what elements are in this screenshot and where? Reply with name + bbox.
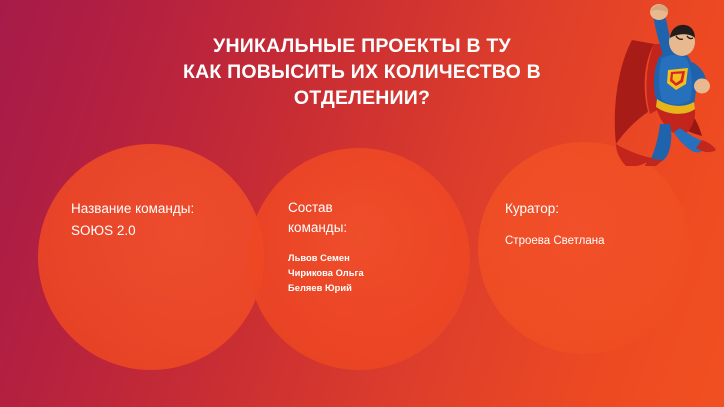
card-curator-heading: Куратор: <box>505 199 680 219</box>
slide-title: УНИКАЛЬНЫЕ ПРОЕКТЫ В ТУ КАК ПОВЫСИТЬ ИХ … <box>112 34 612 112</box>
accent-circle-team-name <box>38 144 264 370</box>
list-item: Чирикова Ольга <box>288 266 428 281</box>
card-team-name-value: SOЮS 2.0 <box>71 221 246 241</box>
card-team-name-heading: Название команды: <box>71 199 246 219</box>
card-curator: Куратор: Строева Светлана <box>505 199 680 250</box>
team-member-list: Львов Семен Чирикова Ольга Беляев Юрий <box>288 251 428 296</box>
presentation-slide: УНИКАЛЬНЫЕ ПРОЕКТЫ В ТУ КАК ПОВЫСИТЬ ИХ … <box>0 0 724 407</box>
list-item: Львов Семен <box>288 251 428 266</box>
superman-flying-icon <box>602 0 722 166</box>
card-team-name: Название команды: SOЮS 2.0 <box>71 199 246 241</box>
card-team-members: Состав команды: Львов Семен Чирикова Оль… <box>288 198 428 296</box>
list-item: Беляев Юрий <box>288 281 428 296</box>
card-team-members-heading: Состав команды: <box>288 198 428 237</box>
card-curator-value: Строева Светлана <box>505 233 680 250</box>
